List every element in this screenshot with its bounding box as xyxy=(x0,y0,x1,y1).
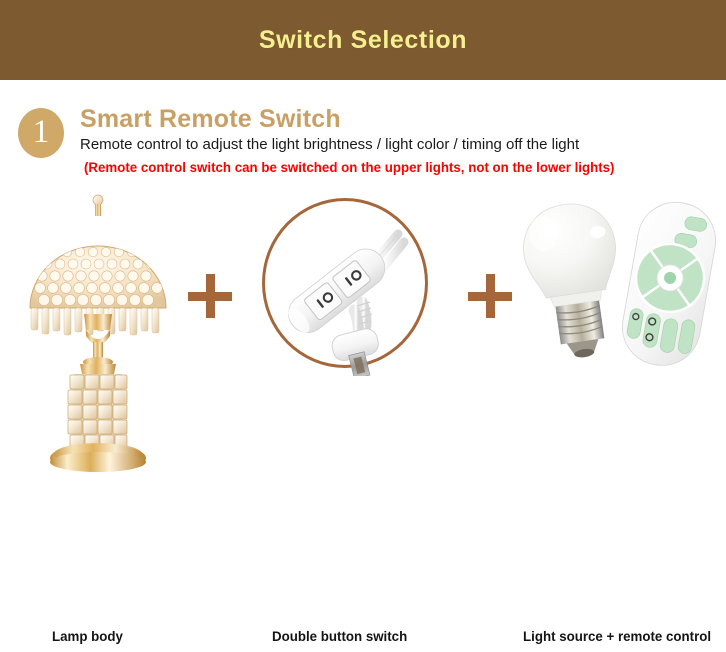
section-subtitle: Remote control to adjust the light brigh… xyxy=(80,136,623,155)
product-composition-row xyxy=(0,190,726,500)
section-title: Smart Remote Switch xyxy=(80,106,623,132)
product-light-source-and-remote xyxy=(510,196,720,376)
step-number-label: 1 xyxy=(33,116,50,149)
page-header-banner: Switch Selection xyxy=(0,0,726,80)
caption-double-switch: Double button switch xyxy=(272,628,407,644)
caption-light-source: Light source + remote control xyxy=(523,628,711,644)
caption-lamp-body: Lamp body xyxy=(52,628,123,644)
step-number-badge: 1 xyxy=(18,108,64,158)
smart-remote-switch-section: 1 Smart Remote Switch Remote control to … xyxy=(0,80,726,500)
plus-operator-1 xyxy=(188,274,232,318)
crystal-table-lamp-icon xyxy=(18,190,178,480)
plus-operator-2 xyxy=(468,274,512,318)
double-button-switch-icon xyxy=(258,198,436,376)
section-warning-note: (Remote control switch can be switched o… xyxy=(84,160,614,176)
section-heading-row: 1 Smart Remote Switch Remote control to … xyxy=(0,80,726,176)
section-text-block: Smart Remote Switch Remote control to ad… xyxy=(64,106,623,176)
product-double-button-switch xyxy=(258,198,436,376)
led-bulb-and-remote-icon xyxy=(510,196,720,376)
product-captions-row: Lamp body Double button switch Light sou… xyxy=(0,628,726,652)
page-title: Switch Selection xyxy=(259,26,467,55)
product-lamp-body xyxy=(18,190,178,480)
